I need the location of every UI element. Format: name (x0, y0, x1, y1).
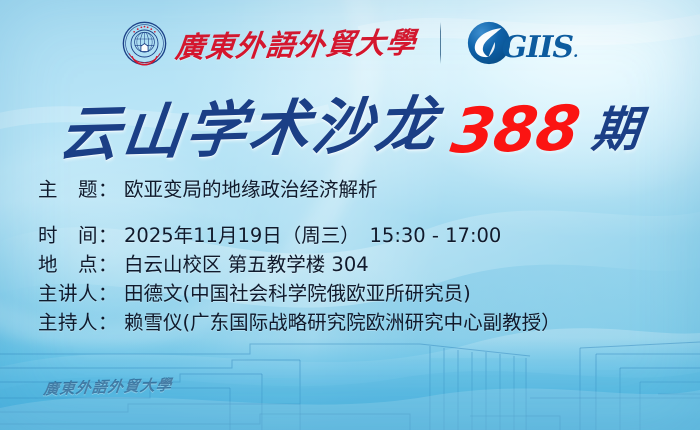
poster-canvas: 廣東外語外貿大學 GIIS. 云山学术沙龙 (0, 0, 700, 430)
poster-vignette (0, 0, 700, 430)
